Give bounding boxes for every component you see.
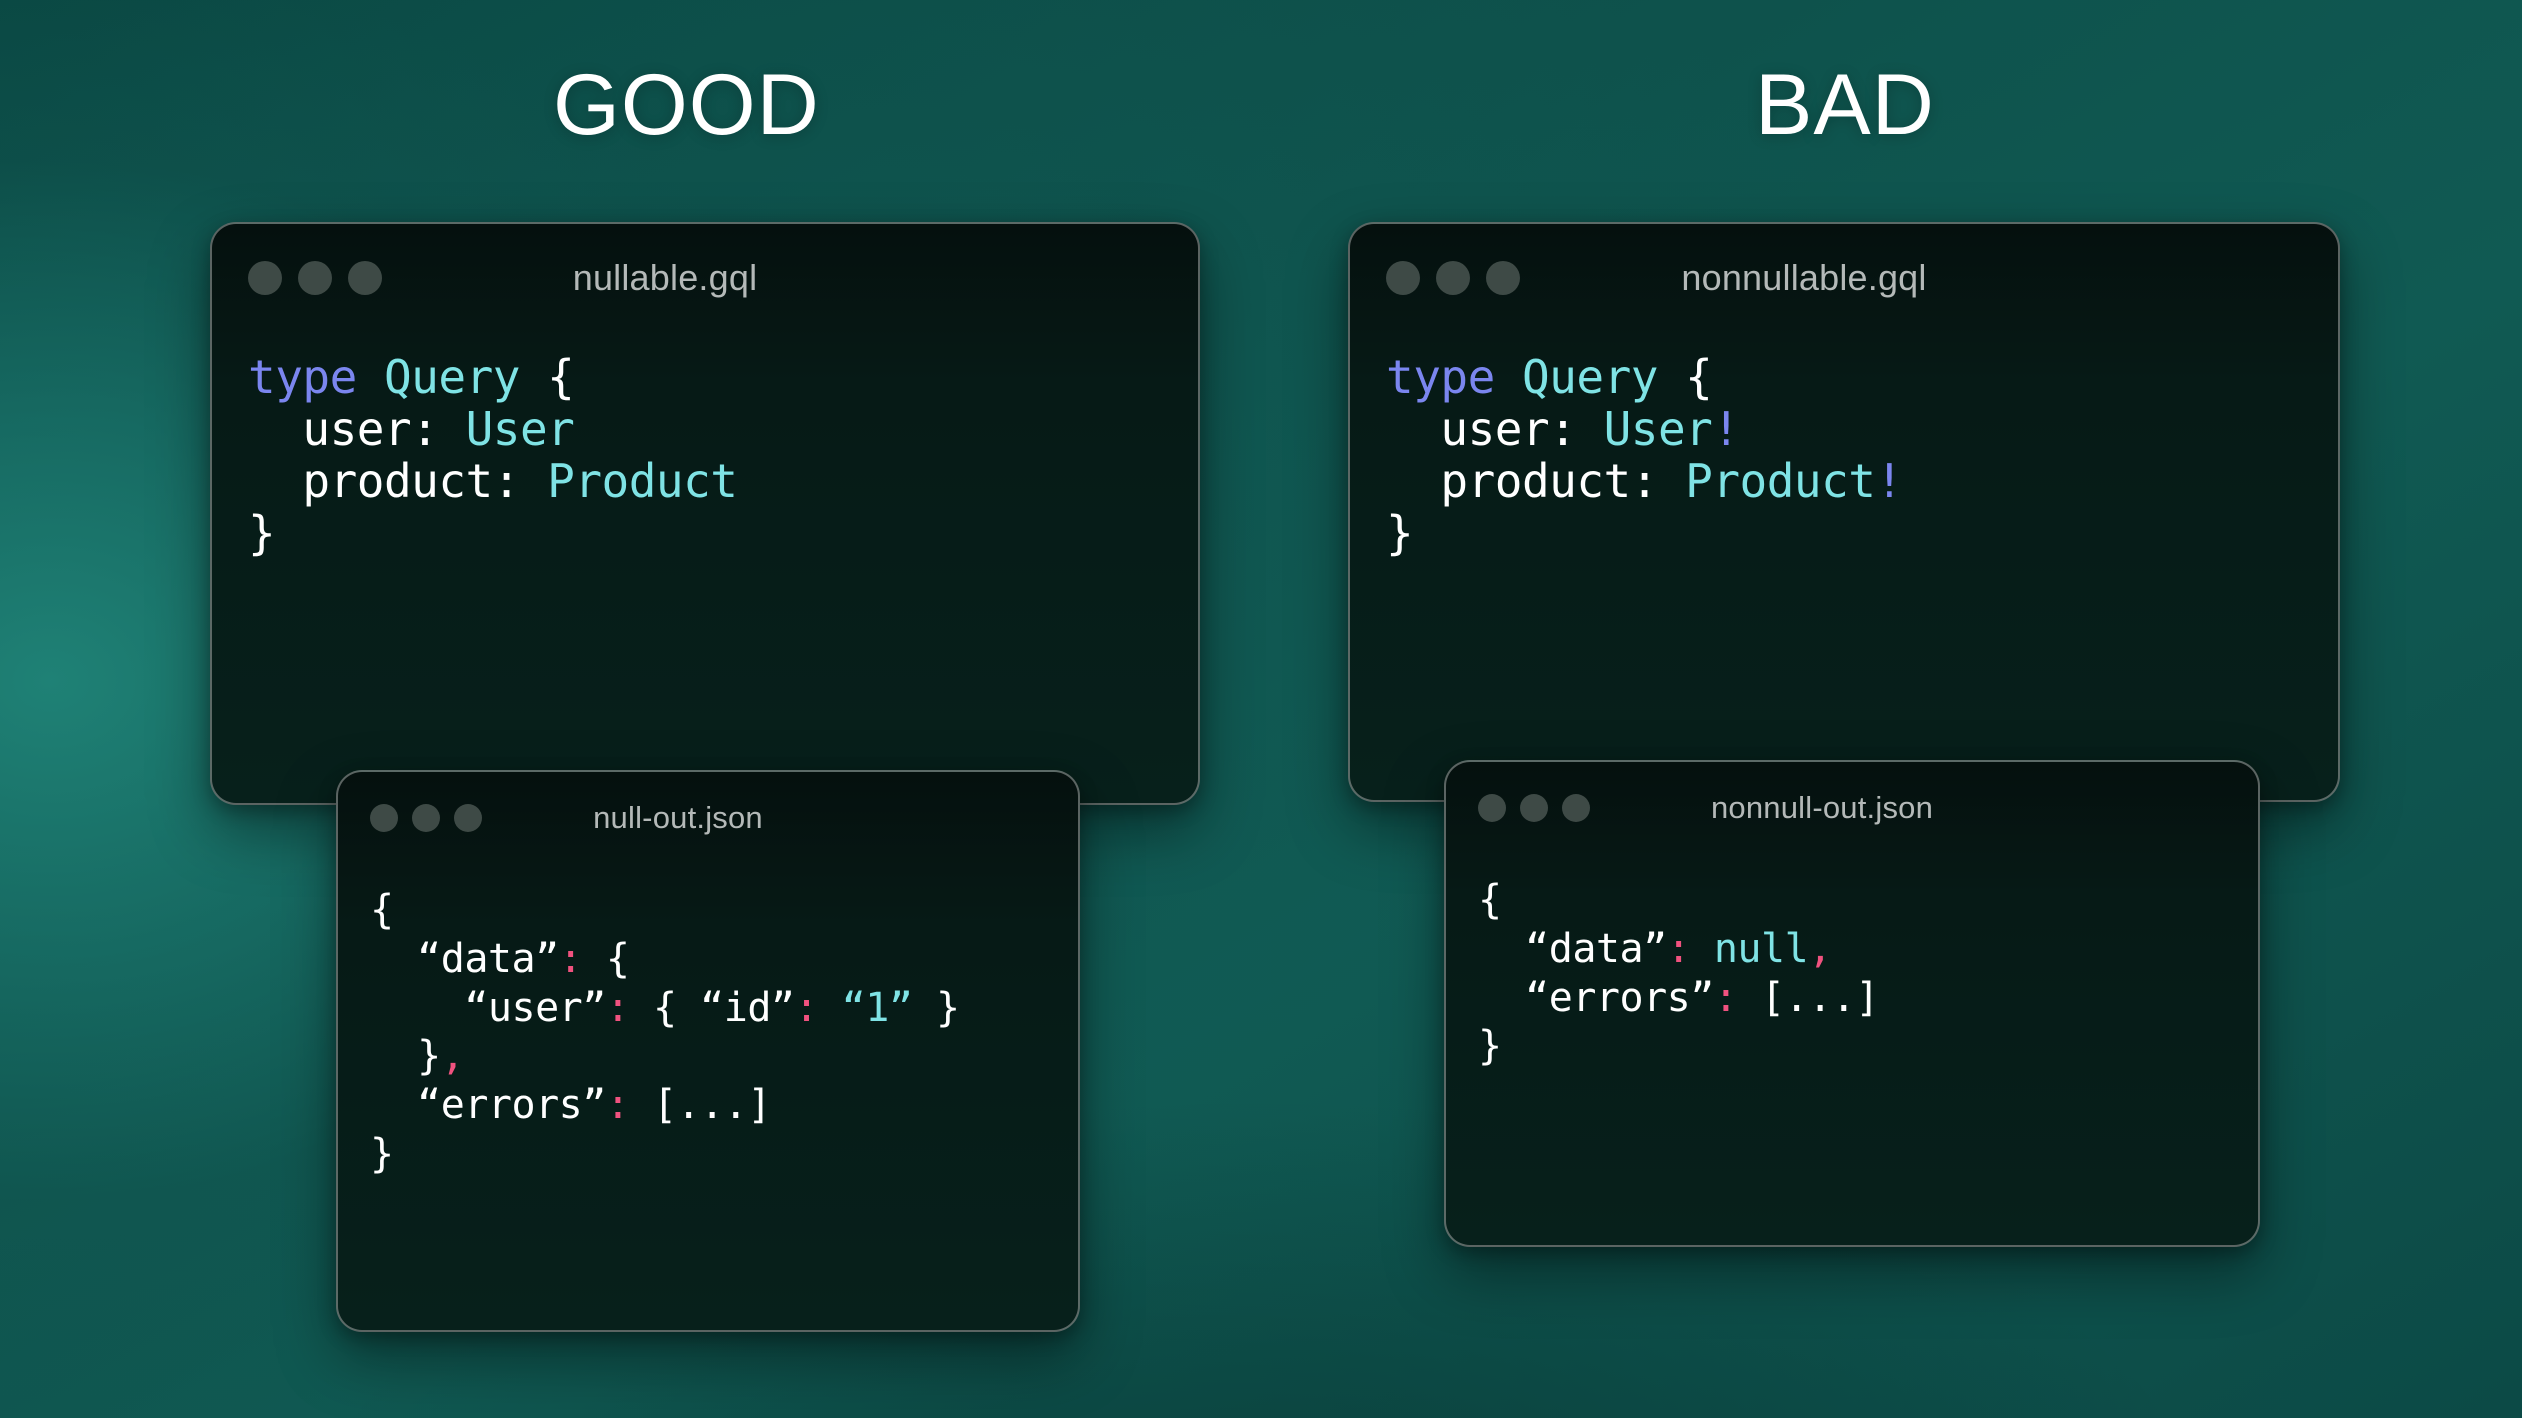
code-token: [...] (629, 1082, 771, 1128)
code-token: “data” (370, 936, 559, 982)
code-token: Product (547, 454, 737, 508)
code-token: “errors” (370, 1082, 606, 1128)
window-controls (370, 804, 482, 832)
code-line: “errors”: [...] (1478, 974, 2258, 1023)
code-token: type (1386, 350, 1495, 404)
code-token: “data” (1478, 926, 1667, 972)
code-token: “1” (842, 985, 913, 1031)
close-icon[interactable] (370, 804, 398, 832)
code-line: “data”: { (370, 935, 1078, 984)
close-icon[interactable] (1386, 261, 1420, 295)
window-titlebar: nonnull-out.json (1446, 762, 2258, 854)
code-block: type Query { user: User! product: Produc… (1350, 332, 2338, 560)
code-token: { (582, 936, 629, 982)
window-titlebar: nonnullable.gql (1350, 224, 2338, 332)
code-block: { “data”: null, “errors”: [...]} (1446, 854, 2258, 1071)
heading-bad: BAD (1755, 62, 1935, 148)
window-titlebar: nullable.gql (212, 224, 1198, 332)
code-token: , (1808, 926, 1832, 972)
code-token: : (1714, 975, 1738, 1021)
close-icon[interactable] (248, 261, 282, 295)
code-token: : (559, 936, 583, 982)
code-token: “errors” (1478, 975, 1714, 1021)
close-icon[interactable] (1478, 794, 1506, 822)
code-line: product: Product (248, 456, 1198, 508)
code-token: { (370, 887, 394, 933)
window-titlebar: null-out.json (338, 772, 1078, 864)
code-line: type Query { (248, 352, 1198, 404)
code-token (1690, 926, 1714, 972)
code-line: } (248, 508, 1198, 560)
code-token: } (370, 1033, 441, 1079)
code-token: } (912, 985, 959, 1031)
code-token: { (1658, 350, 1712, 404)
code-token: } (1478, 1023, 1502, 1069)
code-line: } (370, 1130, 1078, 1179)
code-token (1495, 350, 1522, 404)
code-block: type Query { user: User product: Product… (212, 332, 1198, 560)
code-window-nullable-gql[interactable]: nullable.gql type Query { user: User pro… (210, 222, 1200, 805)
code-line: } (1386, 508, 2338, 560)
maximize-icon[interactable] (454, 804, 482, 832)
code-line: } (1478, 1022, 2258, 1071)
window-controls (248, 261, 382, 295)
code-line: product: Product! (1386, 456, 2338, 508)
code-token: type (248, 350, 357, 404)
code-token: : (795, 985, 819, 1031)
maximize-icon[interactable] (348, 261, 382, 295)
code-line: { (1478, 876, 2258, 925)
code-block: { “data”: { “user”: { “id”: “1” } }, “er… (338, 864, 1078, 1179)
heading-good: GOOD (553, 62, 820, 148)
code-token: “user” (370, 985, 606, 1031)
code-line: “errors”: [...] (370, 1081, 1078, 1130)
code-token: product: (248, 454, 547, 508)
code-token: } (370, 1131, 394, 1177)
code-token: ! (1876, 454, 1903, 508)
code-line: }, (370, 1032, 1078, 1081)
code-token: : (606, 1082, 630, 1128)
code-token (818, 985, 842, 1031)
code-token: } (248, 506, 275, 560)
minimize-icon[interactable] (1436, 261, 1470, 295)
code-line: type Query { (1386, 352, 2338, 404)
code-token: User (1604, 402, 1713, 456)
code-token: { (520, 350, 574, 404)
minimize-icon[interactable] (1520, 794, 1548, 822)
code-token (357, 350, 384, 404)
window-controls (1386, 261, 1520, 295)
code-line: “data”: null, (1478, 925, 2258, 974)
code-token: [...] (1737, 975, 1879, 1021)
code-line: user: User (248, 404, 1198, 456)
code-window-nonnull-out-json[interactable]: nonnull-out.json { “data”: null, “errors… (1444, 760, 2260, 1247)
code-token: { (1478, 877, 1502, 923)
code-line: { (370, 886, 1078, 935)
code-token: ! (1712, 402, 1739, 456)
code-token: Query (1522, 350, 1658, 404)
code-token: user: (248, 402, 466, 456)
code-token: : (1667, 926, 1691, 972)
window-controls (1478, 794, 1590, 822)
minimize-icon[interactable] (412, 804, 440, 832)
maximize-icon[interactable] (1486, 261, 1520, 295)
code-token: product: (1386, 454, 1685, 508)
code-token: { (629, 985, 700, 1031)
code-token: Product (1685, 454, 1875, 508)
code-token: null (1714, 926, 1808, 972)
code-token: User (466, 402, 575, 456)
code-line: “user”: { “id”: “1” } (370, 984, 1078, 1033)
code-token: Query (384, 350, 520, 404)
code-window-nonnullable-gql[interactable]: nonnullable.gql type Query { user: User!… (1348, 222, 2340, 802)
code-token: , (441, 1033, 465, 1079)
minimize-icon[interactable] (298, 261, 332, 295)
code-window-null-out-json[interactable]: null-out.json { “data”: { “user”: { “id”… (336, 770, 1080, 1332)
code-token: } (1386, 506, 1413, 560)
code-line: user: User! (1386, 404, 2338, 456)
code-token: : (606, 985, 630, 1031)
maximize-icon[interactable] (1562, 794, 1590, 822)
code-token: “id” (700, 985, 794, 1031)
code-token: user: (1386, 402, 1604, 456)
